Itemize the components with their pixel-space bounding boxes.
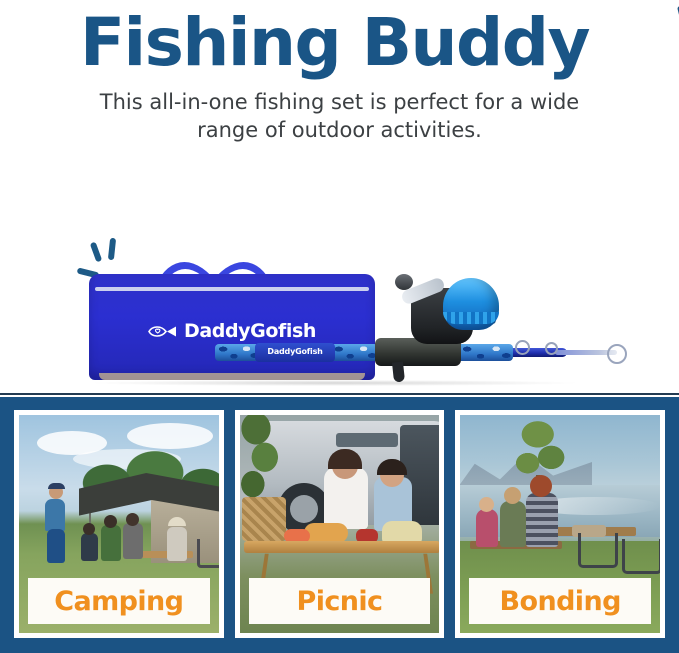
- person-seated: [123, 523, 143, 559]
- person-seated: [167, 527, 187, 561]
- use-case-card-camping[interactable]: Camping: [14, 410, 224, 638]
- card-label-text: Picnic: [297, 586, 383, 617]
- fish-heart-icon: [148, 324, 178, 339]
- use-case-card-picnic[interactable]: Picnic: [235, 410, 445, 638]
- person-seated: [476, 509, 498, 547]
- sparkle-icon: [667, 6, 679, 58]
- rod-tip-guide: [607, 344, 627, 364]
- camp-chair: [578, 533, 618, 568]
- person-seated: [81, 533, 98, 561]
- bag-zipper: [95, 287, 369, 291]
- product-drop-shadow: [95, 380, 575, 386]
- page-title: Fishing Buddy: [80, 4, 599, 82]
- sparkle-ray: [90, 242, 102, 263]
- person-standing: [45, 499, 65, 531]
- rod-line-guide: [515, 340, 530, 355]
- person-seated: [101, 525, 121, 561]
- reel-crank-knob: [395, 274, 413, 290]
- person-head: [126, 513, 139, 526]
- person-seated: [500, 501, 526, 547]
- person-cap: [48, 483, 65, 489]
- person-seated: [526, 493, 558, 547]
- fishing-rod: DaddyGofish: [215, 326, 623, 382]
- rod-brand-name: DaddyGofish: [255, 347, 335, 356]
- rod-camo-wrap: [215, 344, 260, 361]
- page-subtitle: This all-in-one fishing set is perfect f…: [70, 88, 610, 144]
- hero-section: Fishing Buddy This all-in-one fishing se…: [0, 0, 679, 396]
- food-item: [304, 523, 348, 543]
- camping-photo: Camping: [19, 415, 219, 633]
- card-label-text: Camping: [54, 586, 183, 617]
- bonding-photo: Bonding: [460, 415, 660, 633]
- reel-dome-band: [443, 312, 499, 324]
- rod-line-guide: [545, 342, 558, 355]
- camp-chair: [622, 539, 660, 574]
- person-hair: [328, 449, 362, 469]
- van-window: [336, 433, 398, 447]
- card-label-camping: Camping: [28, 578, 210, 624]
- picnic-basket: [242, 497, 286, 541]
- section-divider: [0, 393, 679, 395]
- card-label-text: Bonding: [500, 586, 621, 617]
- rod-camo-wrap: [457, 344, 513, 361]
- person-standing: [47, 529, 65, 563]
- food-item: [382, 521, 422, 543]
- use-cases-banner: Camping: [0, 397, 679, 653]
- title-container: Fishing Buddy: [0, 4, 679, 82]
- picnic-photo: Picnic: [240, 415, 440, 633]
- product-photo: DaddyGofish DaddyGofish: [55, 178, 625, 390]
- rod-camo-wrap: [330, 344, 378, 361]
- rod-grip: DaddyGofish: [255, 343, 335, 362]
- person-head: [83, 523, 95, 535]
- use-case-card-list: Camping: [14, 410, 665, 638]
- use-case-card-bonding[interactable]: Bonding: [455, 410, 665, 638]
- card-label-bonding: Bonding: [469, 578, 651, 624]
- person-head: [104, 515, 117, 528]
- card-label-picnic: Picnic: [249, 578, 431, 624]
- sparkle-ray: [108, 238, 116, 261]
- camp-chair: [197, 539, 219, 568]
- picnic-table: [244, 541, 440, 553]
